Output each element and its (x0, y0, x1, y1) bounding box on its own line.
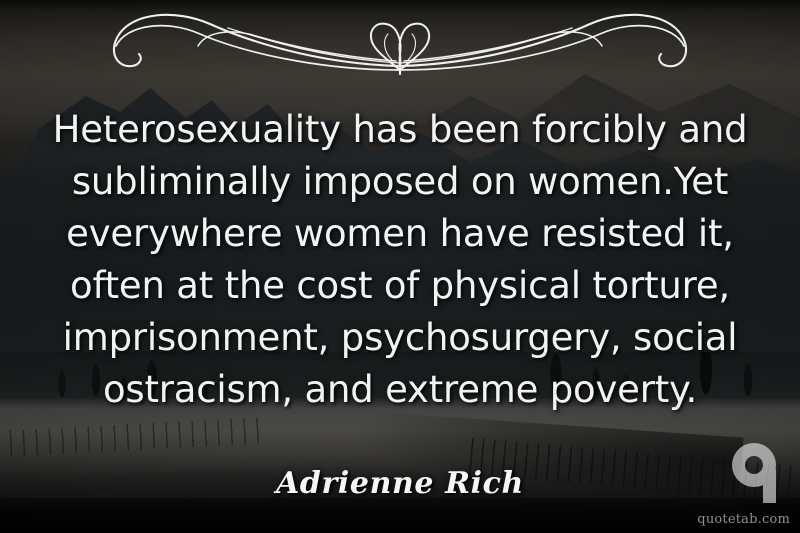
quote-text: Heterosexuality has been forcibly and su… (44, 104, 756, 416)
decorative-flourish-icon (70, 8, 730, 94)
quote-author: Adrienne Rich (0, 466, 800, 501)
quote-image-card: Heterosexuality has been forcibly and su… (0, 0, 800, 533)
flourish-svg (70, 8, 730, 94)
quotetab-q-logo-icon[interactable] (722, 441, 786, 505)
q-logo-svg (722, 441, 786, 505)
watermark-domain-label[interactable]: quotetab.com (697, 512, 790, 527)
watermark[interactable]: quotetab.com (702, 441, 794, 529)
